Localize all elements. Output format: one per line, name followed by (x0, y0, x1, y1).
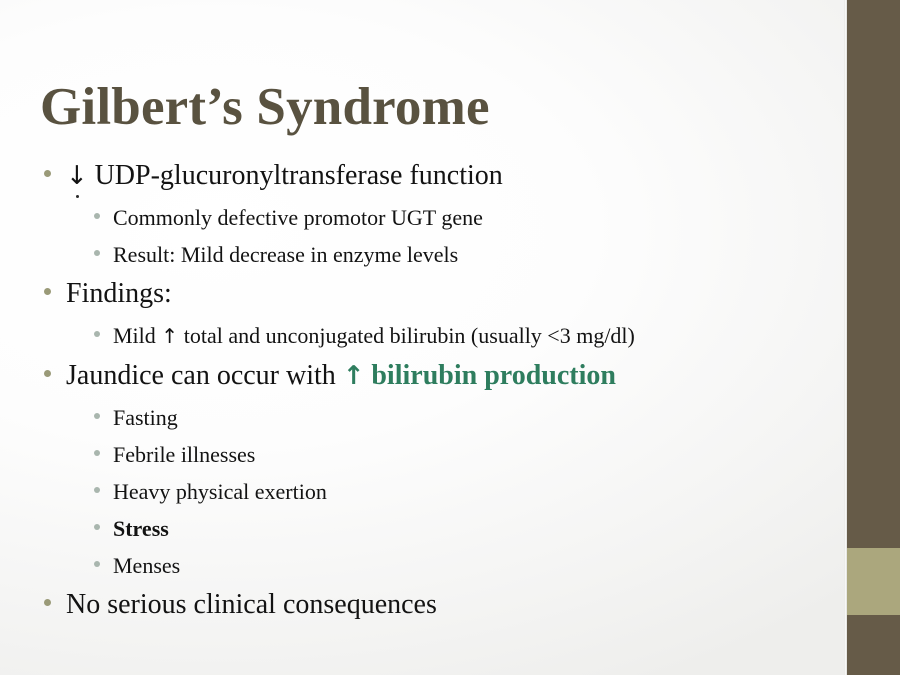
bullet-text-pre: Mild (113, 323, 161, 348)
slide-title: Gilbert’s Syndrome (40, 80, 780, 136)
bullet-item: Mild ↑ total and unconjugated bilirubin … (44, 317, 834, 355)
bullet-item: ↓ UDP-glucuronyltransferase function (44, 155, 834, 197)
bullet-text: Stress (113, 510, 169, 547)
slide-side-band-middle (847, 548, 900, 615)
bullet-item: Jaundice can occur with ↑ bilirubin prod… (44, 355, 834, 397)
bullet-dot-icon (94, 524, 100, 530)
slide-bullet-list: ↓ UDP-glucuronyltransferase function Com… (44, 155, 834, 628)
bullet-text-rest: total and unconjugated bilirubin (usuall… (178, 323, 635, 348)
bullet-dot-icon (44, 288, 51, 295)
bullet-item: Heavy physical exertion (44, 473, 834, 510)
bullet-item: Stress (44, 510, 834, 547)
bullet-item: Result: Mild decrease in enzyme levels (44, 236, 834, 273)
bullet-text: Heavy physical exertion (113, 473, 327, 510)
bullet-dot-icon (44, 599, 51, 606)
bullet-text-emphasis: bilirubin production (364, 360, 616, 391)
bullet-text: Jaundice can occur with ↑ bilirubin prod… (66, 355, 616, 397)
bullet-text: Mild ↑ total and unconjugated bilirubin … (113, 317, 635, 355)
bullet-dot-icon (94, 331, 100, 337)
bullet-item: No serious clinical consequences (44, 584, 834, 626)
slide-side-band-bottom (847, 615, 900, 675)
up-arrow-icon: ↑ (343, 361, 365, 391)
bullet-dot-icon (94, 450, 100, 456)
bullet-dot-icon (94, 413, 100, 419)
bullet-text-rest: UDP-glucuronyltransferase function (88, 160, 503, 191)
bullet-text: Result: Mild decrease in enzyme levels (113, 236, 458, 273)
bullet-dot-icon (44, 170, 51, 177)
bullet-item: Febrile illnesses (44, 436, 834, 473)
bullet-text-pre: Jaundice can occur with (66, 360, 343, 391)
bullet-item: Menses (44, 547, 834, 584)
bullet-text: Commonly defective promotor UGT gene (113, 199, 483, 236)
bullet-text: Fasting (113, 399, 178, 436)
up-arrow-icon: ↑ (161, 324, 178, 348)
bullet-dot-icon (44, 370, 51, 377)
presentation-slide: Gilbert’s Syndrome ↓ UDP-glucuronyltrans… (0, 0, 900, 675)
bullet-dot-icon (94, 561, 100, 567)
bullet-text: Menses (113, 547, 180, 584)
bullet-text: Febrile illnesses (113, 436, 255, 473)
stray-dot-artifact (76, 195, 79, 198)
down-arrow-icon: ↓ (66, 161, 88, 191)
bullet-item: Fasting (44, 399, 834, 436)
bullet-item: Commonly defective promotor UGT gene (44, 199, 834, 236)
bullet-dot-icon (94, 213, 100, 219)
bullet-dot-icon (94, 487, 100, 493)
bullet-text: Findings: (66, 273, 172, 315)
bullet-text: ↓ UDP-glucuronyltransferase function (66, 155, 503, 197)
bullet-item: Findings: (44, 273, 834, 315)
slide-side-band-top (847, 0, 900, 548)
bullet-dot-icon (94, 250, 100, 256)
bullet-text: No serious clinical consequences (66, 584, 437, 626)
